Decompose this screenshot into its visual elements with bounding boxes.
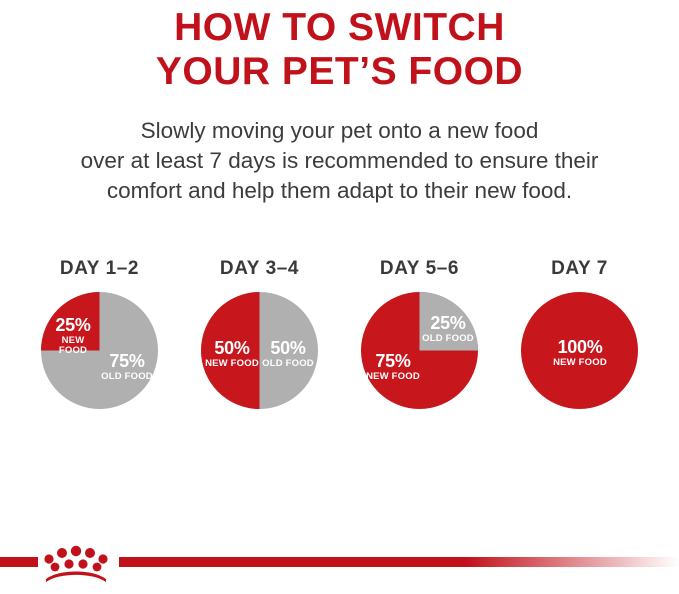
page-title: HOW TO SWITCH YOUR PET’S FOOD [0,0,679,94]
title-line-1: HOW TO SWITCH [0,6,679,50]
crown-icon [41,536,111,582]
intro-line-2: over at least 7 days is recommended to e… [0,146,679,176]
footer-rule-left [0,557,38,567]
pie-chart-day-7: DAY 7 100% NEW FOOD [500,258,660,409]
pie-chart-day-5-6: DAY 5–6 25% OLD FOOD 75% NEW FOOD [340,258,500,409]
pie-svg-day-3-4 [201,292,318,409]
pie-slice-new-food [41,292,100,351]
pie-graphic: 25% OLD FOOD 75% NEW FOOD [361,292,478,409]
pie-svg-day-5-6 [361,292,478,409]
pie-graphic: 100% NEW FOOD [521,292,638,409]
pie-graphic: 25% NEW FOOD 75% OLD FOOD [41,292,158,409]
pie-slice-new-food [521,292,638,409]
pie-svg-day-1-2 [41,292,158,409]
pie-day-label: DAY 7 [551,258,608,280]
pie-day-label: DAY 1–2 [60,258,139,280]
pie-day-label: DAY 5–6 [380,258,459,280]
pie-chart-day-3-4: DAY 3–4 50% NEW FOOD 50% OLD FOOD [180,258,340,409]
intro-line-3: comfort and help them adapt to their new… [0,176,679,206]
intro-line-1: Slowly moving your pet onto a new food [0,116,679,146]
pie-svg-day-7 [521,292,638,409]
footer-rule-right [119,557,679,567]
title-line-2: YOUR PET’S FOOD [0,50,679,94]
pie-day-label: DAY 3–4 [220,258,299,280]
pie-chart-day-1-2: DAY 1–2 25% NEW FOOD 75% OLD FOOD [20,258,180,409]
intro-paragraph: Slowly moving your pet onto a new food o… [0,116,679,206]
pie-graphic: 50% NEW FOOD 50% OLD FOOD [201,292,318,409]
pie-slice-old-food [420,292,479,351]
footer [0,536,679,594]
pie-chart-row: DAY 1–2 25% NEW FOOD 75% OLD FOOD DAY 3–… [0,258,679,409]
pie-slice-new-food [201,292,260,409]
